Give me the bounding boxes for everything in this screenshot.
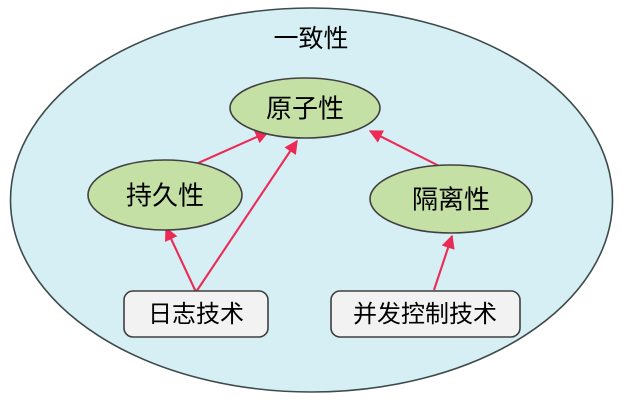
ellipse-node-isolation[interactable]: 隔离性 [370, 165, 532, 233]
consistency-container-label: 一致性 [273, 24, 348, 53]
ellipse-node-durability[interactable]: 持久性 [88, 160, 242, 230]
box-node-concurrency-control[interactable]: 并发控制技术 [331, 291, 520, 337]
box-node-concurrency-control-label: 并发控制技术 [353, 300, 497, 328]
ellipse-node-atomicity-label: 原子性 [266, 95, 344, 125]
ellipse-node-atomicity[interactable]: 原子性 [230, 78, 380, 138]
diagram-canvas: 一致性 原子性 持久性 隔离性 日志技术 [0, 0, 639, 405]
box-node-logging-label: 日志技术 [148, 300, 244, 328]
ellipse-node-durability-label: 持久性 [126, 182, 204, 212]
ellipse-node-isolation-label: 隔离性 [412, 186, 490, 216]
box-node-logging[interactable]: 日志技术 [124, 291, 268, 337]
diagram-svg: 一致性 原子性 持久性 隔离性 日志技术 [0, 0, 639, 405]
